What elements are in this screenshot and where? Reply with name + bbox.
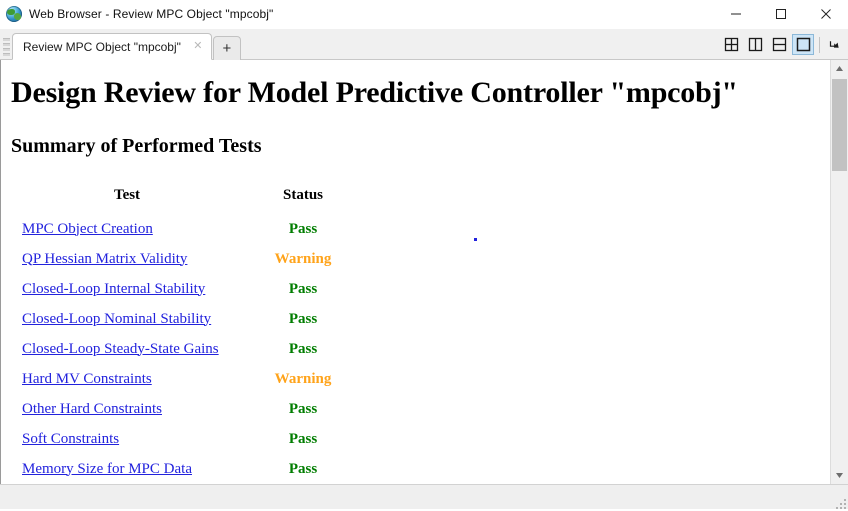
status-badge: Warning — [275, 251, 332, 267]
maximize-button[interactable] — [758, 0, 803, 28]
window-controls — [713, 0, 848, 28]
minimize-button[interactable] — [713, 0, 758, 28]
browser-window: Web Browser - Review MPC Object "mpcobj"… — [0, 0, 848, 511]
test-name-cell: Soft Constraints — [11, 424, 243, 454]
table-header-row: Test Status — [11, 187, 363, 214]
undock-arrow-icon[interactable] — [824, 34, 844, 55]
test-link[interactable]: Closed-Loop Nominal Stability — [22, 311, 211, 327]
layout-button-group — [719, 30, 848, 59]
globe-icon — [6, 6, 22, 22]
status-cell: Pass — [243, 304, 363, 334]
test-results-table: Test Status MPC Object CreationPassQP He… — [11, 187, 363, 484]
page-title: Design Review for Model Predictive Contr… — [11, 76, 830, 109]
test-link[interactable]: Closed-Loop Steady-State Gains — [22, 341, 219, 357]
status-cell: Warning — [243, 364, 363, 394]
table-row: Memory Size for MPC DataPass — [11, 454, 363, 484]
new-tab-button[interactable]: + — [213, 36, 241, 60]
table-row: MPC Object CreationPass — [11, 214, 363, 244]
test-name-cell: QP Hessian Matrix Validity — [11, 244, 243, 274]
tab-label: Review MPC Object "mpcobj" — [23, 40, 181, 54]
test-name-cell: Closed-Loop Steady-State Gains — [11, 334, 243, 364]
stray-link-dot[interactable] — [474, 238, 477, 241]
layout-single-pane-icon[interactable] — [792, 34, 814, 55]
status-badge: Pass — [289, 431, 317, 447]
tab-bar: Review MPC Object "mpcobj" ✕ + — [0, 29, 848, 60]
close-button[interactable] — [803, 0, 848, 28]
status-cell: Pass — [243, 454, 363, 484]
status-cell: Pass — [243, 214, 363, 244]
test-name-cell: Closed-Loop Nominal Stability — [11, 304, 243, 334]
test-name-cell: Other Hard Constraints — [11, 394, 243, 424]
column-header-test: Test — [11, 187, 243, 214]
table-row: Hard MV ConstraintsWarning — [11, 364, 363, 394]
content-area: Design Review for Model Predictive Contr… — [0, 60, 848, 484]
tab-review-mpc-object[interactable]: Review MPC Object "mpcobj" ✕ — [12, 33, 212, 60]
test-link[interactable]: Memory Size for MPC Data — [22, 461, 192, 477]
layout-two-rows-icon[interactable] — [768, 34, 790, 55]
title-bar: Web Browser - Review MPC Object "mpcobj" — [0, 0, 848, 29]
test-name-cell: Closed-Loop Internal Stability — [11, 274, 243, 304]
column-header-status: Status — [243, 187, 363, 214]
scrollbar-track[interactable] — [831, 77, 848, 467]
scroll-down-icon[interactable] — [831, 467, 848, 484]
status-badge: Pass — [289, 461, 317, 477]
scroll-up-icon[interactable] — [831, 60, 848, 77]
section-heading: Summary of Performed Tests — [11, 135, 830, 157]
table-row: Other Hard ConstraintsPass — [11, 394, 363, 424]
tab-close-icon[interactable]: ✕ — [189, 38, 207, 56]
status-badge: Pass — [289, 341, 317, 357]
layout-two-columns-icon[interactable] — [744, 34, 766, 55]
test-name-cell: MPC Object Creation — [11, 214, 243, 244]
status-cell: Pass — [243, 274, 363, 304]
test-link[interactable]: Other Hard Constraints — [22, 401, 162, 417]
table-body: MPC Object CreationPassQP Hessian Matrix… — [11, 214, 363, 484]
status-cell: Warning — [243, 244, 363, 274]
table-row: Closed-Loop Internal StabilityPass — [11, 274, 363, 304]
drag-grip-icon[interactable] — [3, 36, 12, 58]
test-link[interactable]: Soft Constraints — [22, 431, 119, 447]
status-cell: Pass — [243, 334, 363, 364]
status-bar — [0, 484, 848, 511]
table-row: QP Hessian Matrix ValidityWarning — [11, 244, 363, 274]
table-row: Closed-Loop Steady-State GainsPass — [11, 334, 363, 364]
status-badge: Pass — [289, 221, 317, 237]
table-head: Test Status — [11, 187, 363, 214]
status-cell: Pass — [243, 424, 363, 454]
table-row: Soft ConstraintsPass — [11, 424, 363, 454]
vertical-scrollbar[interactable] — [830, 60, 848, 484]
document-page: Design Review for Model Predictive Contr… — [1, 60, 830, 484]
test-link[interactable]: MPC Object Creation — [22, 221, 153, 237]
status-badge: Pass — [289, 281, 317, 297]
status-badge: Pass — [289, 401, 317, 417]
status-badge: Warning — [275, 371, 332, 387]
resize-grip-icon[interactable] — [834, 497, 846, 509]
table-row: Closed-Loop Nominal StabilityPass — [11, 304, 363, 334]
status-cell: Pass — [243, 394, 363, 424]
layout-grid-2x2-icon[interactable] — [720, 34, 742, 55]
test-link[interactable]: Hard MV Constraints — [22, 371, 152, 387]
toolbar-separator — [819, 37, 820, 53]
test-link[interactable]: QP Hessian Matrix Validity — [22, 251, 187, 267]
window-title: Web Browser - Review MPC Object "mpcobj" — [29, 7, 273, 21]
status-badge: Pass — [289, 311, 317, 327]
scrollbar-thumb[interactable] — [832, 79, 847, 171]
test-name-cell: Memory Size for MPC Data — [11, 454, 243, 484]
test-name-cell: Hard MV Constraints — [11, 364, 243, 394]
test-link[interactable]: Closed-Loop Internal Stability — [22, 281, 205, 297]
